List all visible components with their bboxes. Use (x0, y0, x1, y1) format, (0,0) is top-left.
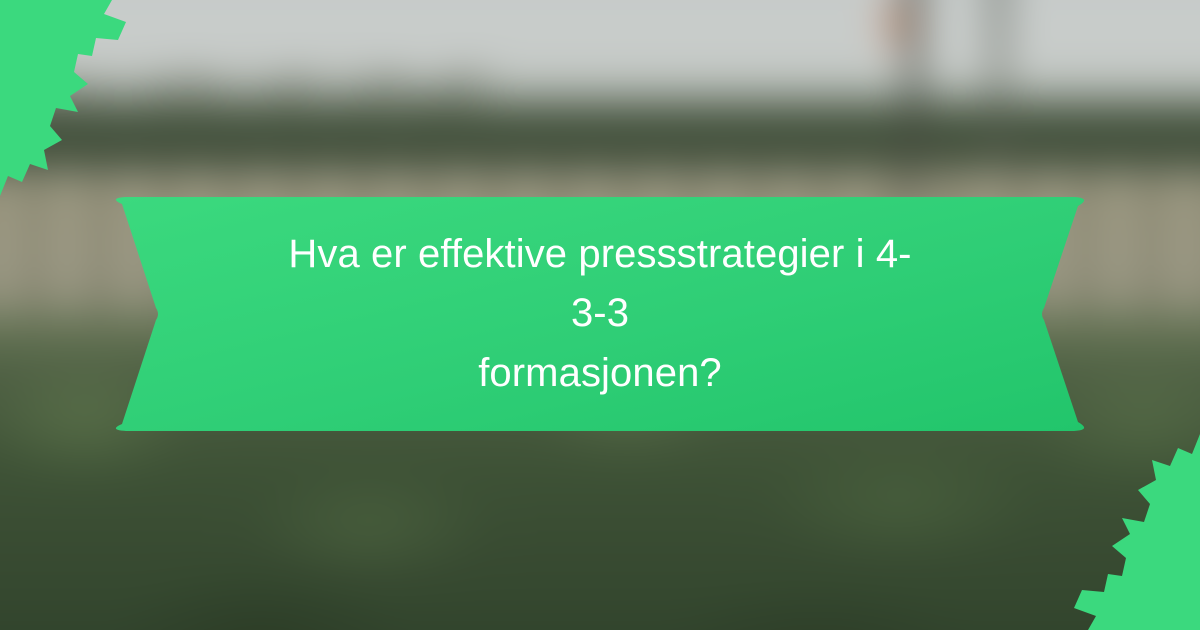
secondary-pole-icon (987, 0, 1010, 164)
orange-accent-right-top (878, 0, 914, 60)
headline-ribbon: Hva er effektive pressstrategier i 4-3-3… (108, 196, 1092, 432)
treeline-band (0, 82, 1200, 172)
headline-line-1: Hva er effektive pressstrategier i 4-3-3 (278, 225, 922, 343)
headline-text: Hva er effektive pressstrategier i 4-3-3… (278, 196, 922, 432)
share-card: BUBiSiDE (0, 0, 1200, 630)
headline-line-2: formasjonen? (478, 344, 722, 403)
